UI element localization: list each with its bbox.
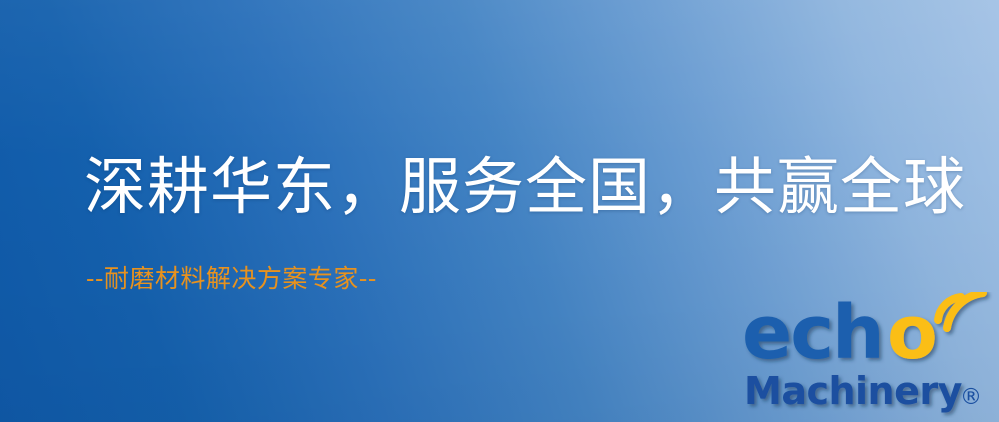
banner-headline: 深耕华东，服务全国，共赢全球 [84,150,966,223]
logo-wordmark-o: o [887,292,938,376]
banner-subtitle: --耐磨材料解决方案专家-- [86,264,377,294]
logo-wordmark-ech: ech [742,292,883,376]
echo-machinery-logo[interactable]: ech o Machinery ® [742,292,994,418]
signal-waves-icon [938,293,983,328]
registered-trademark-icon: ® [960,385,982,410]
logo-tagline: Machinery [744,369,963,413]
hero-banner: 深耕华东，服务全国，共赢全球 --耐磨材料解决方案专家-- ech o Mach… [0,0,999,422]
